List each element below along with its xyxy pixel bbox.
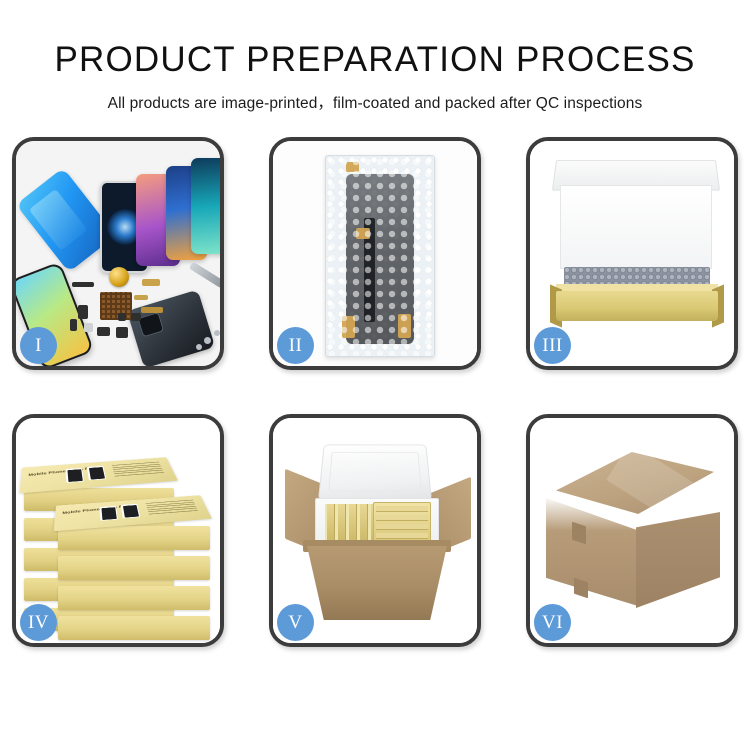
component-part-icon: [70, 319, 77, 331]
foam-sheet-icon: [560, 185, 712, 269]
component-part-icon: [142, 279, 160, 286]
box-front-panel-icon: [556, 291, 718, 321]
box-stack: Mobile Phone Spare Parts Mobile Phone Sp…: [22, 432, 220, 638]
packed-box-tray-icon: [373, 502, 431, 544]
foam-box-lid-icon: [318, 445, 432, 501]
component-part-icon: [131, 313, 141, 321]
phone-teal-display-icon: [191, 158, 220, 254]
speaker-module-icon: [109, 267, 129, 287]
shipping-carton-icon: [546, 452, 728, 614]
badge-step-5: V: [277, 604, 314, 641]
step-panel-6[interactable]: VI: [526, 414, 738, 647]
screw-icon: [196, 344, 202, 350]
box-phone-image-icon: [87, 466, 106, 481]
phone-back-housing-icon: [127, 289, 215, 366]
stacked-box-icon: [58, 556, 210, 580]
step-panel-4[interactable]: Mobile Phone Spare Parts Mobile Phone Sp…: [12, 414, 224, 647]
step-panel-3[interactable]: III: [526, 137, 738, 370]
screw-icon: [214, 330, 220, 336]
carton-left-face: [546, 498, 638, 606]
carton-top-face: [556, 452, 714, 514]
page-title: PRODUCT PREPARATION PROCESS: [0, 42, 750, 79]
carton-body-icon: [307, 546, 447, 620]
badge-step-2: II: [277, 327, 314, 364]
component-part-icon: [97, 327, 110, 336]
bubble-texture-overlay: [326, 156, 434, 356]
badge-step-6: VI: [534, 604, 571, 641]
component-part-icon: [118, 313, 126, 321]
flex-cable-icon: [141, 307, 163, 313]
badge-step-3: III: [534, 327, 571, 364]
step-panel-2[interactable]: II: [269, 137, 481, 370]
badge-step-1: I: [20, 327, 57, 364]
component-part-icon: [116, 327, 128, 338]
component-part-icon: [72, 282, 94, 287]
box-phone-image-icon: [121, 504, 140, 519]
process-steps-grid: I II: [12, 137, 738, 647]
component-part-icon: [84, 323, 93, 332]
box-spec-lines: [112, 462, 166, 480]
screw-icon: [204, 337, 211, 344]
box-phone-image-icon: [99, 506, 118, 521]
stacked-box-icon: [58, 616, 210, 640]
page-header: PRODUCT PREPARATION PROCESS All products…: [0, 0, 750, 113]
component-part-icon: [134, 295, 148, 300]
screwdriver-icon: [189, 262, 220, 289]
bubble-wrap-bag-icon: [325, 155, 435, 357]
badge-step-4: IV: [20, 604, 57, 641]
step-panel-1[interactable]: I: [12, 137, 224, 370]
carton-seam-icon: [606, 443, 695, 522]
box-phone-image-icon: [65, 468, 84, 483]
stacked-box-icon: [58, 526, 210, 550]
step-panel-5[interactable]: V: [269, 414, 481, 647]
component-part-icon: [78, 305, 88, 319]
carton-tape-icon: [574, 578, 588, 599]
chip-board-icon: [100, 292, 132, 320]
box-spec-lines: [146, 500, 200, 518]
page-subtitle: All products are image-printed，film-coat…: [0, 91, 750, 113]
carton-right-face: [636, 512, 720, 608]
stacked-box-icon: [58, 586, 210, 610]
